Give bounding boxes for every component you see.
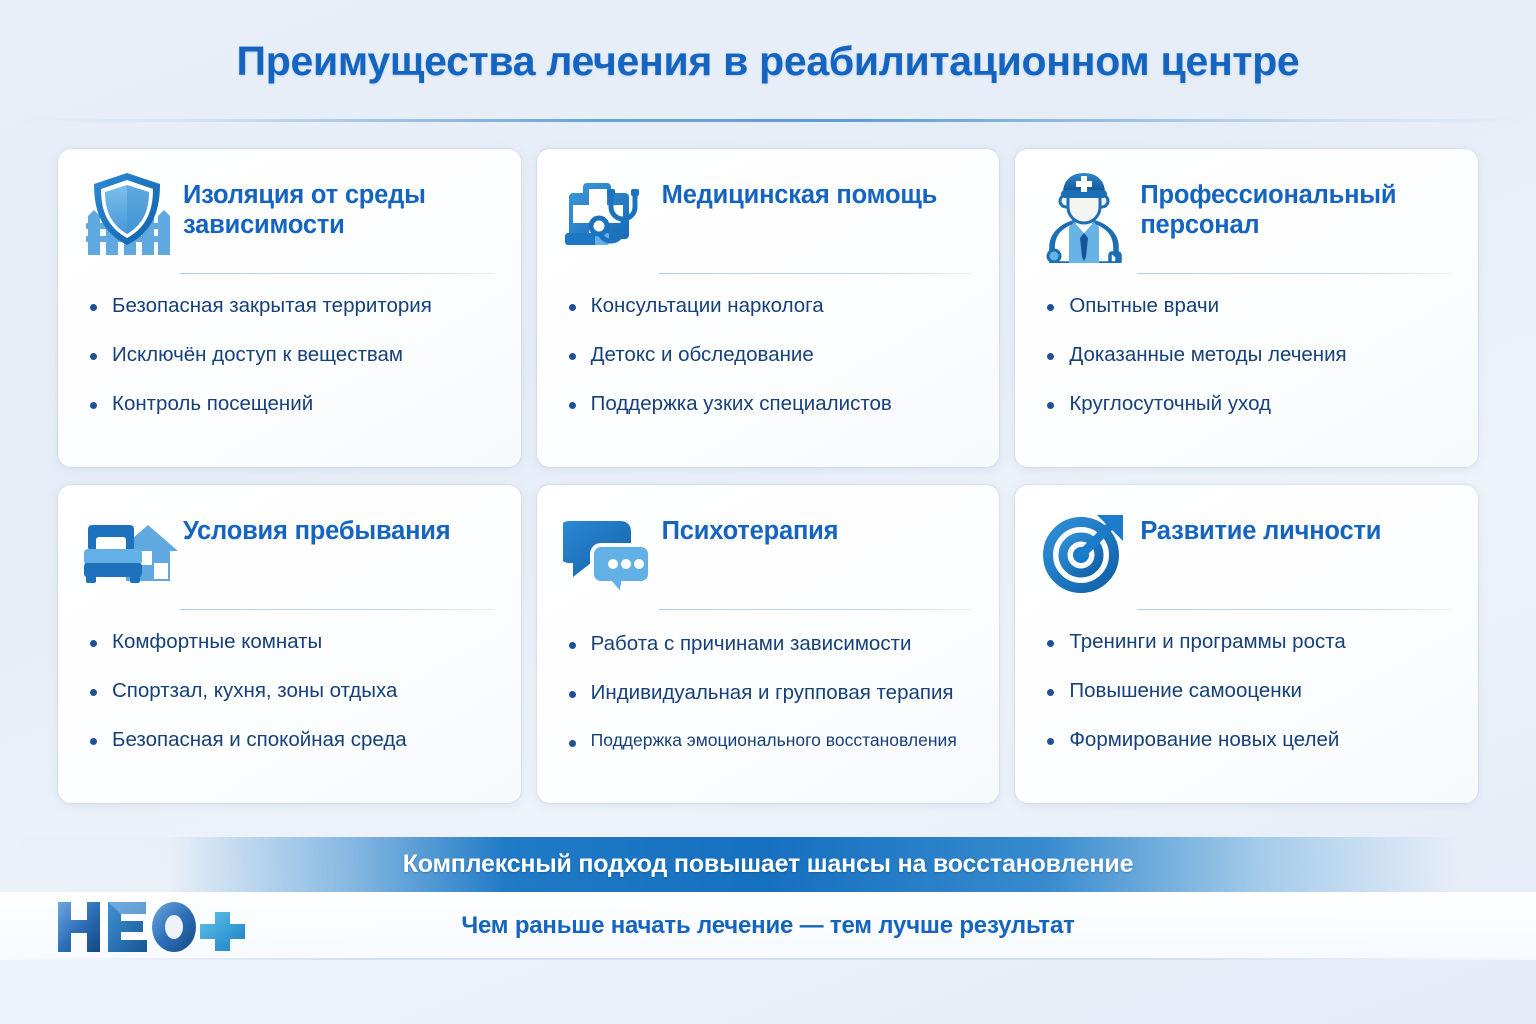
- benefits-grid: Изоляция от среды зависимости Безопасная…: [58, 149, 1478, 803]
- card-professional-staff[interactable]: Профессиональный персонал Опытные врачи …: [1015, 149, 1478, 467]
- list-item: Детокс и обследование: [563, 344, 974, 367]
- card-title: Медицинская помощь: [662, 171, 937, 211]
- bullet-list: Комфортные комнаты Спортзал, кухня, зоны…: [84, 610, 495, 785]
- list-item: Поддержка эмоционального восстановления: [563, 731, 974, 751]
- title-bar: Преимущества лечения в реабилитационном …: [0, 0, 1536, 122]
- card-header: Психотерапия: [563, 507, 974, 603]
- medical-bag-stethoscope-icon: [563, 171, 649, 263]
- bed-house-icon: [84, 507, 170, 599]
- banner-text: Комплексный подход повышает шансы на вос…: [403, 850, 1134, 879]
- speech-bubbles-icon: [563, 507, 649, 599]
- bullet-list: Работа с причинами зависимости Индивидуа…: [563, 610, 974, 785]
- list-item: Поддержка узких специалистов: [563, 393, 974, 416]
- bullet-list: Опытные врачи Доказанные методы лечения …: [1041, 274, 1452, 449]
- list-item: Контроль посещений: [84, 393, 495, 416]
- card-header: Изоляция от среды зависимости: [84, 171, 495, 267]
- list-item: Индивидуальная и групповая терапия: [563, 682, 974, 705]
- card-psychotherapy[interactable]: Психотерапия Работа с причинами зависимо…: [537, 485, 1000, 803]
- list-item: Безопасная закрытая территория: [84, 295, 495, 318]
- card-personal-growth[interactable]: Развитие личности Тренинги и программы р…: [1015, 485, 1478, 803]
- card-header: Условия пребывания: [84, 507, 495, 603]
- footer-banner: Комплексный подход повышает шансы на вос…: [0, 837, 1536, 892]
- list-item: Безопасная и спокойная среда: [84, 729, 495, 752]
- bullet-list: Безопасная закрытая территория Исключён …: [84, 274, 495, 449]
- list-item: Спортзал, кухня, зоны отдыха: [84, 680, 495, 703]
- doctor-icon: [1041, 171, 1127, 263]
- neo-plus-logo[interactable]: [52, 894, 252, 960]
- card-header: Медицинская помощь: [563, 171, 974, 267]
- list-item: Круглосуточный уход: [1041, 393, 1452, 416]
- bullet-list: Тренинги и программы роста Повышение сам…: [1041, 610, 1452, 785]
- bullet-list: Консультации нарколога Детокс и обследов…: [563, 274, 974, 449]
- target-arrow-icon: [1041, 507, 1127, 599]
- list-item: Опытные врачи: [1041, 295, 1452, 318]
- card-title: Профессиональный персонал: [1140, 171, 1452, 240]
- list-item: Комфортные комнаты: [84, 631, 495, 654]
- card-title: Условия пребывания: [183, 507, 450, 547]
- footer-subbar: Чем раньше начать лечение — тем лучше ре…: [0, 892, 1536, 960]
- card-isolation[interactable]: Изоляция от среды зависимости Безопасная…: [58, 149, 521, 467]
- footer: Комплексный подход повышает шансы на вос…: [0, 829, 1536, 1024]
- title-divider: [0, 119, 1536, 122]
- card-title: Психотерапия: [662, 507, 839, 547]
- card-living-conditions[interactable]: Условия пребывания Комфортные комнаты Сп…: [58, 485, 521, 803]
- shield-fence-icon: [84, 171, 170, 263]
- card-header: Профессиональный персонал: [1041, 171, 1452, 267]
- page-title: Преимущества лечения в реабилитационном …: [237, 38, 1300, 85]
- list-item: Формирование новых целей: [1041, 729, 1452, 752]
- list-item: Тренинги и программы роста: [1041, 631, 1452, 654]
- card-header: Развитие личности: [1041, 507, 1452, 603]
- list-item: Повышение самооценки: [1041, 680, 1452, 703]
- card-title: Развитие личности: [1140, 507, 1381, 547]
- list-item: Доказанные методы лечения: [1041, 344, 1452, 367]
- list-item: Работа с причинами зависимости: [563, 633, 974, 656]
- card-medical-help[interactable]: Медицинская помощь Консультации нарколог…: [537, 149, 1000, 467]
- card-title: Изоляция от среды зависимости: [183, 171, 495, 240]
- list-item: Исключён доступ к веществам: [84, 344, 495, 367]
- list-item: Консультации нарколога: [563, 295, 974, 318]
